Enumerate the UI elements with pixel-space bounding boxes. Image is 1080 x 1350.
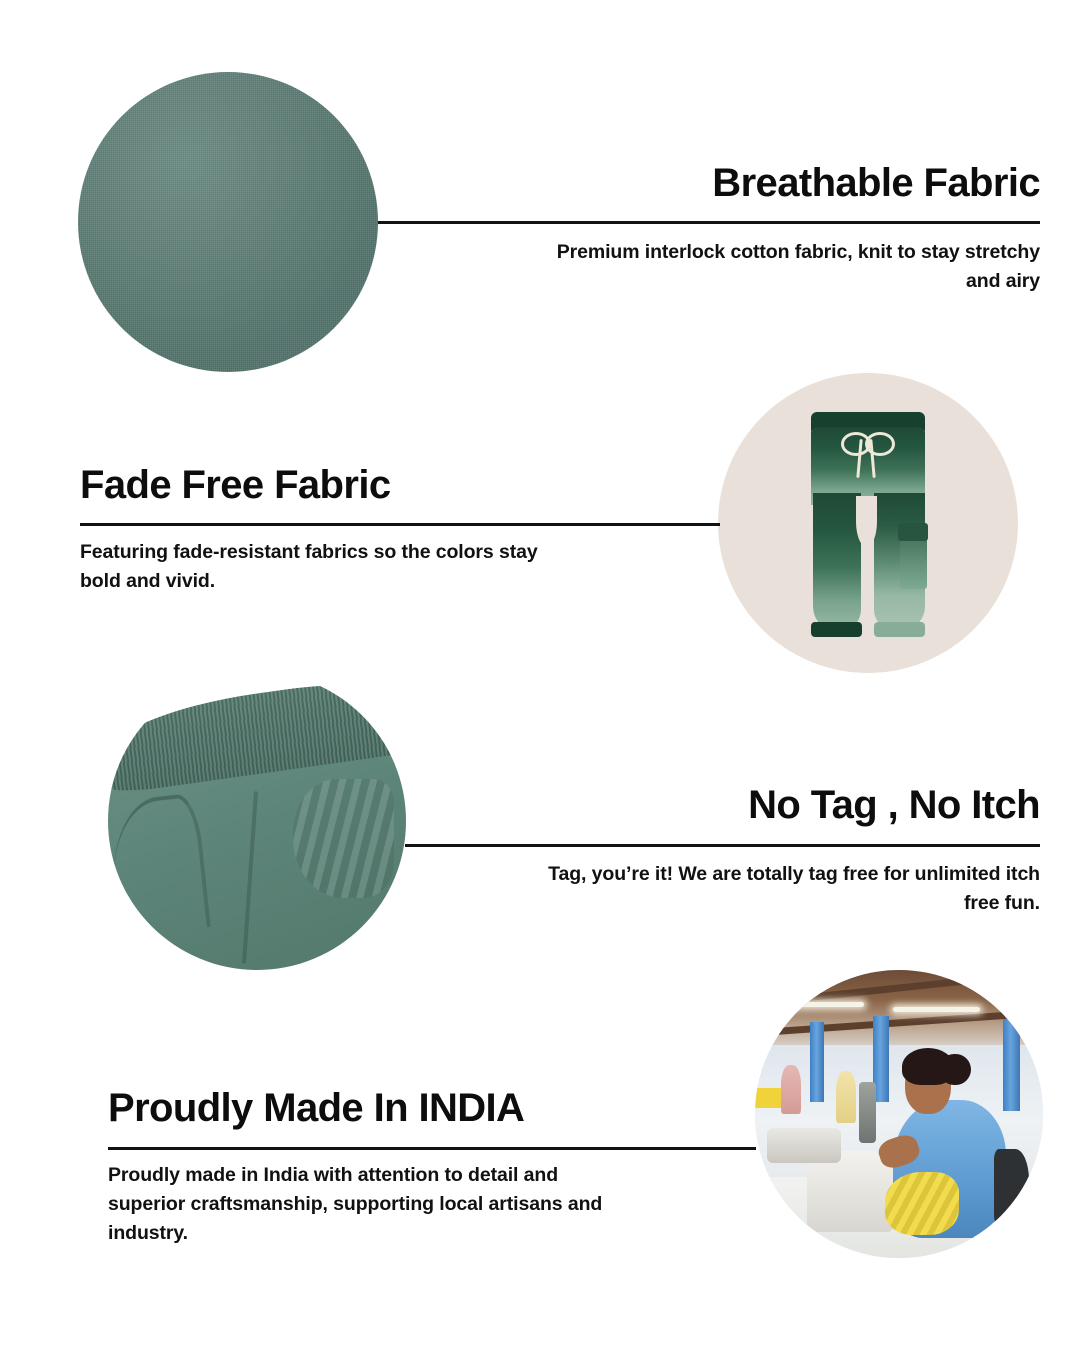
feature-heading-fade-free-fabric: Fade Free Fabric (80, 462, 700, 508)
ceiling-light-1 (790, 1002, 865, 1007)
product-feature-infographic: Breathable Fabric Premium interlock cott… (0, 0, 1080, 1350)
sewing-machine-arm (859, 1082, 876, 1142)
thread-cone-pink (781, 1065, 801, 1114)
feature-body-no-tag-no-itch: Tag, you’re it! We are totally tag free … (540, 860, 1040, 918)
feature-body-proudly-made-in-india: Proudly made in India with attention to … (108, 1161, 608, 1248)
jogger-pants-circle (718, 373, 1018, 673)
sewing-machine-body (807, 1151, 893, 1232)
jogger-right-cuff (874, 622, 925, 637)
ceiling-light-2 (893, 1007, 979, 1012)
yellow-fabric-roll (885, 1172, 960, 1235)
worker-hair-bun (939, 1054, 971, 1086)
yellow-sign (755, 1088, 784, 1108)
factory-pillar-3 (1003, 1019, 1020, 1111)
feature-heading-breathable-fabric: Breathable Fabric (540, 160, 1040, 206)
feature-heading-no-tag-no-itch: No Tag , No Itch (560, 782, 1040, 828)
worker-chair (994, 1149, 1029, 1227)
feature-divider-fade-free-fabric (80, 523, 720, 526)
fabric-swatch-circle (78, 72, 378, 372)
sewing-machine-base (767, 1128, 842, 1163)
jogger-cargo-pocket-flap (898, 523, 928, 541)
jogger-left-leg (813, 493, 861, 628)
factory-worker-circle (755, 970, 1043, 1258)
waistband-closeup-circle (108, 672, 406, 970)
feature-body-breathable-fabric: Premium interlock cotton fabric, knit to… (540, 238, 1040, 296)
feature-divider-no-tag-no-itch (405, 844, 1040, 847)
factory-pillar-1 (810, 1022, 824, 1103)
feature-divider-proudly-made-in-india (108, 1147, 756, 1150)
feature-heading-proudly-made-in-india: Proudly Made In INDIA (108, 1085, 748, 1131)
jogger-crotch-gap (856, 496, 877, 547)
jogger-left-cuff (811, 622, 862, 637)
thread-cone-yellow (836, 1071, 856, 1123)
jogger-pants-illustration (718, 373, 1018, 673)
fabric-gathers (293, 779, 394, 898)
feature-divider-breathable-fabric (378, 221, 1040, 224)
feature-body-fade-free-fabric: Featuring fade-resistant fabrics so the … (80, 538, 570, 596)
